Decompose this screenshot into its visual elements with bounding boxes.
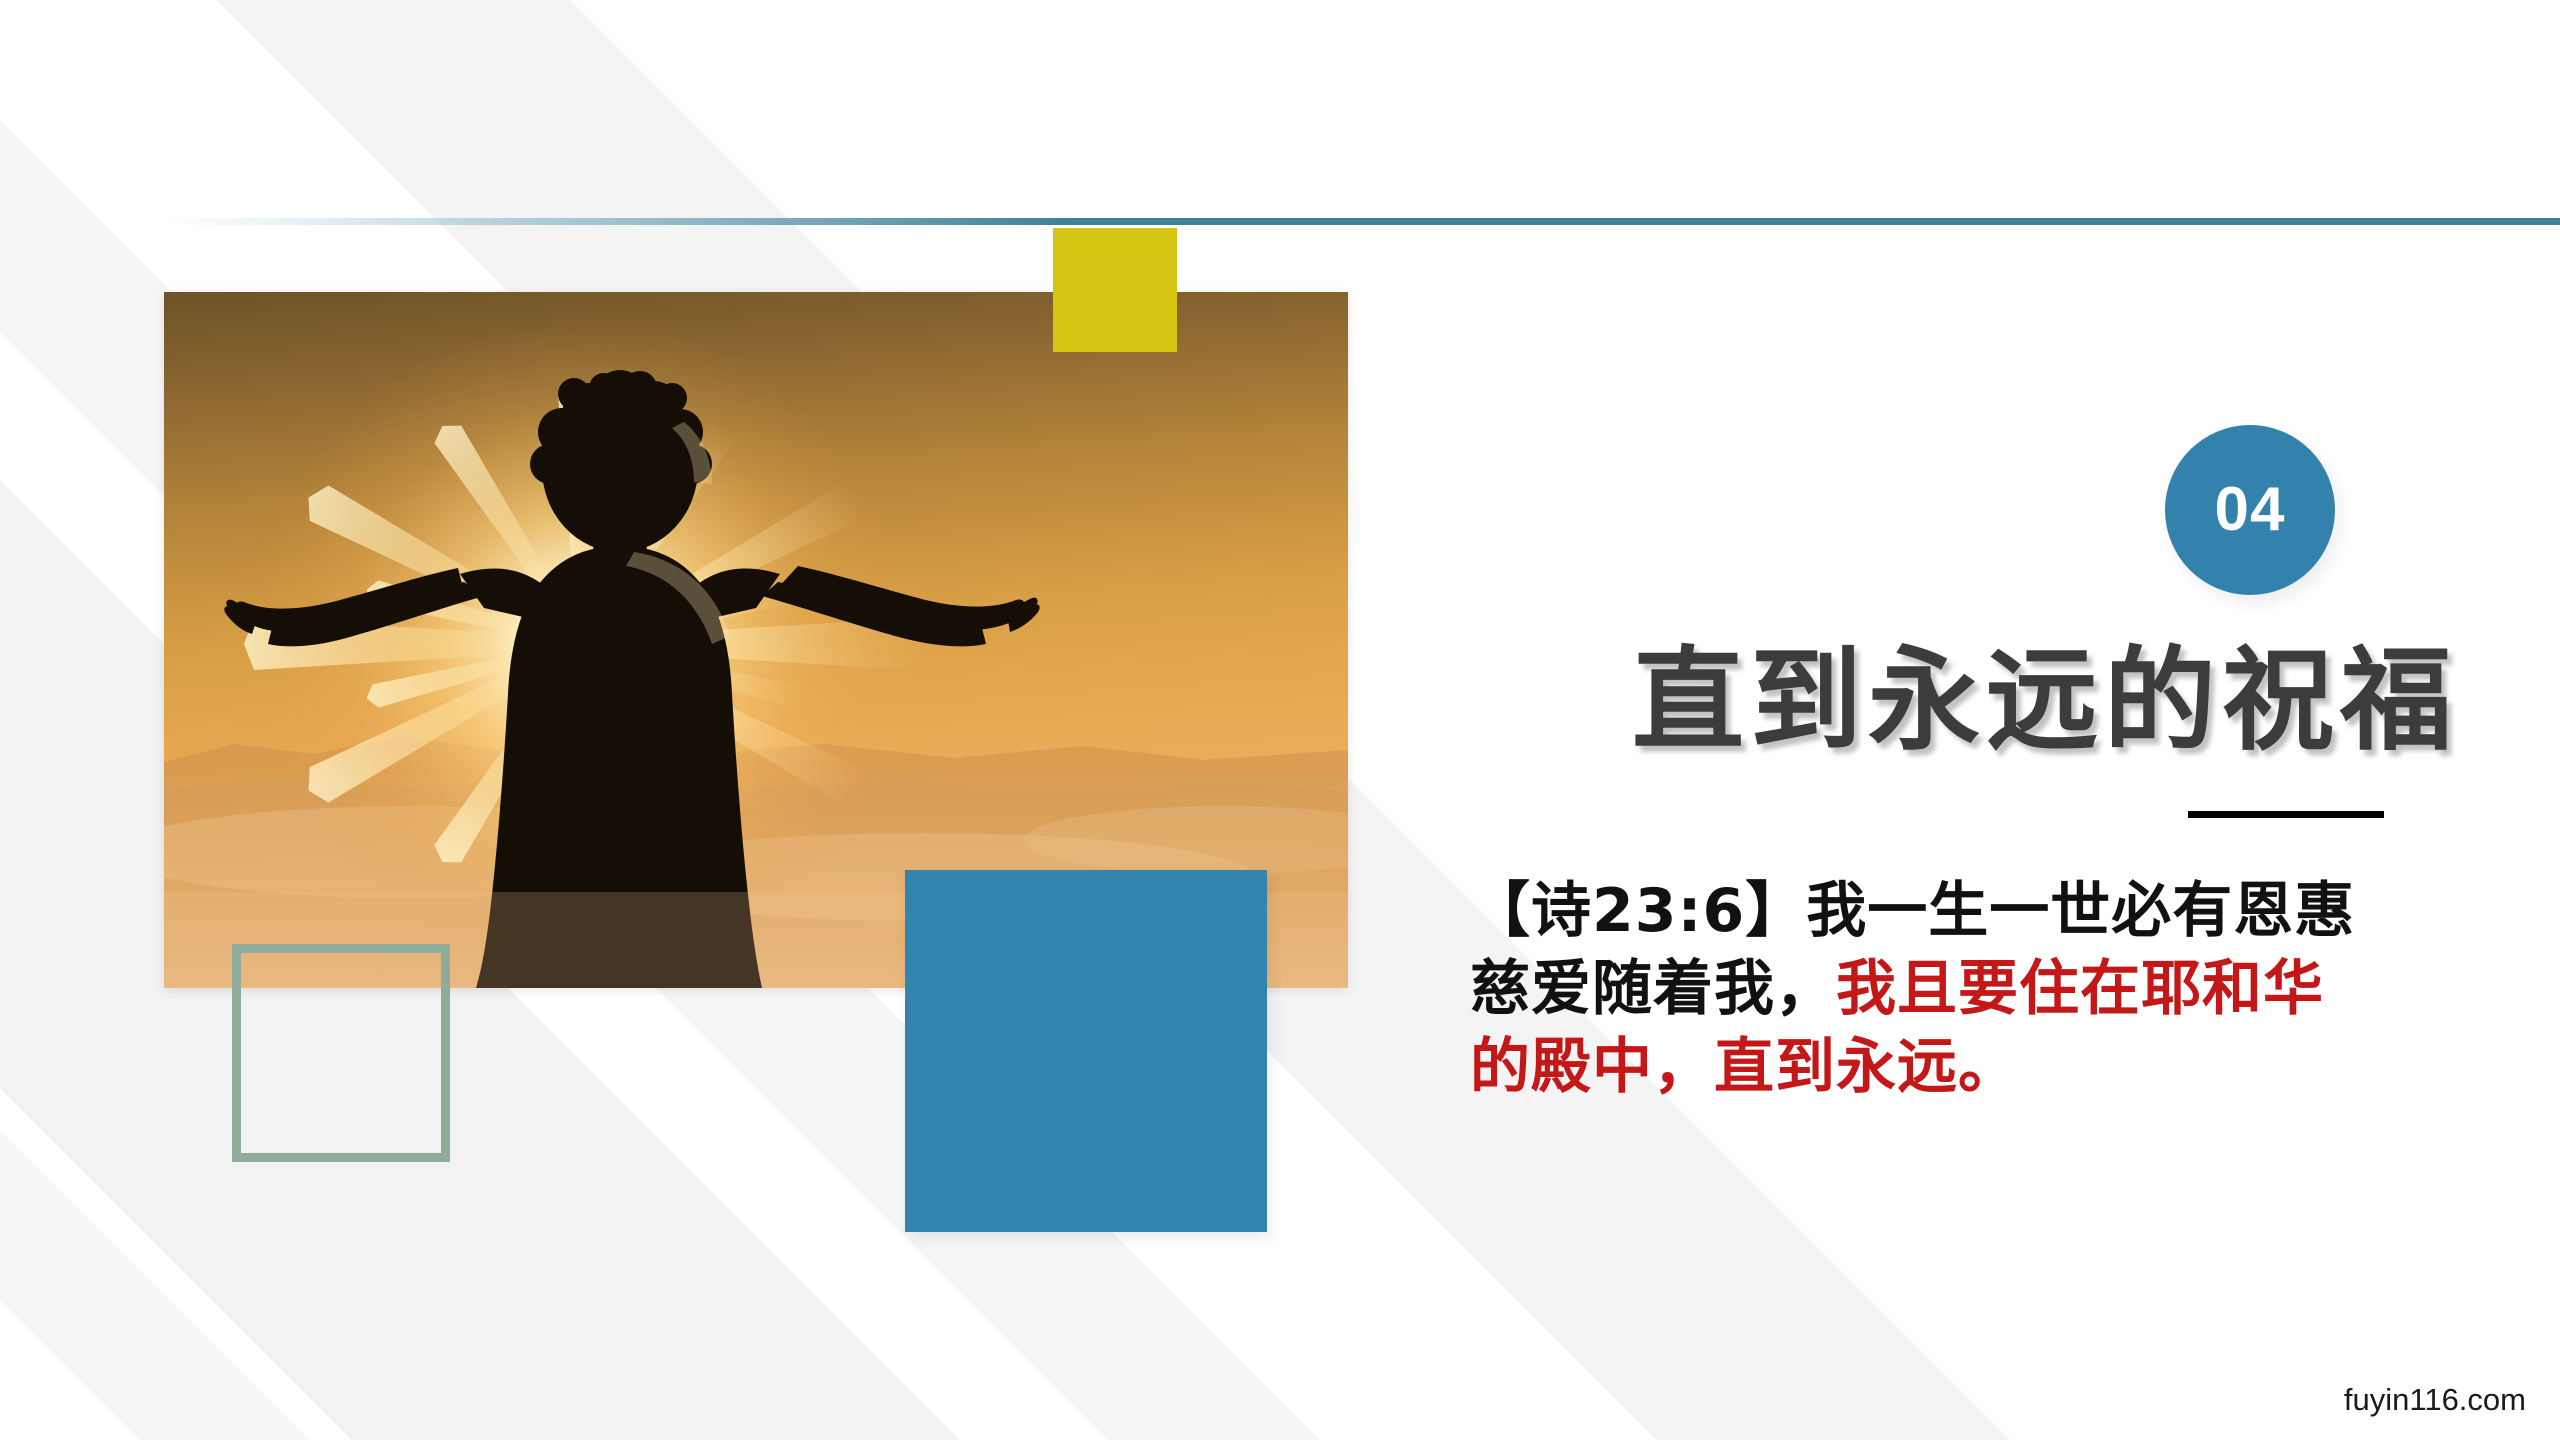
slide-canvas: 04 直到永远的祝福 【诗23:6】我一生一世必有恩惠慈爱随着我，我且要住在耶和… <box>0 0 2560 1440</box>
slide-title: 直到永远的祝福 <box>1470 640 2480 763</box>
green-outline-square <box>232 944 450 1162</box>
blue-accent-square <box>905 870 1267 1232</box>
site-watermark: fuyin116.com <box>2344 1382 2526 1418</box>
content-column: 直到永远的祝福 【诗23:6】我一生一世必有恩惠慈爱随着我，我且要住在耶和华的殿… <box>1470 640 2480 1106</box>
section-number-badge: 04 <box>2165 425 2335 595</box>
title-underline-rule <box>2188 811 2384 818</box>
top-divider-line <box>160 218 2560 225</box>
scripture-verse: 【诗23:6】我一生一世必有恩惠慈爱随着我，我且要住在耶和华的殿中，直到永远。 <box>1470 872 2480 1106</box>
section-number-label: 04 <box>2215 479 2286 541</box>
yellow-accent-square <box>1053 228 1177 352</box>
